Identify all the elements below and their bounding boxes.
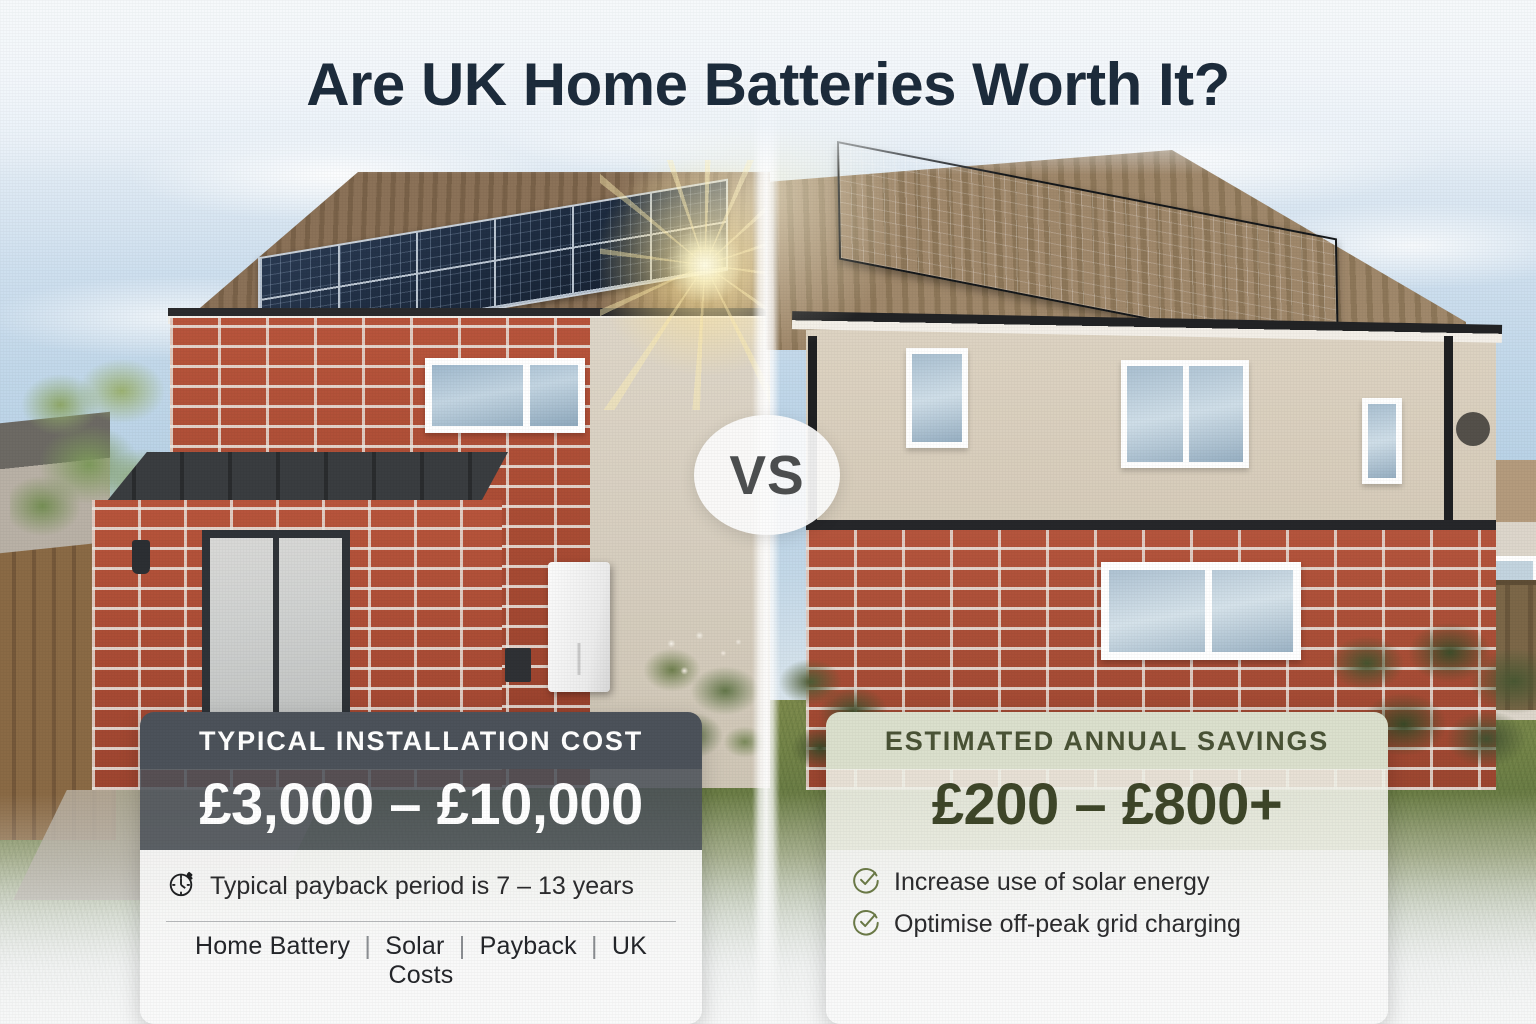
benefit-row-solar: Increase use of solar energy <box>852 862 1362 904</box>
annual-savings-body: Increase use of solar energy Optimise of… <box>826 850 1388 1024</box>
tag-separator-1: | <box>357 932 378 960</box>
right-window-left <box>906 348 968 448</box>
stopwatch-icon <box>166 868 196 905</box>
left-porch-lamp-icon <box>132 540 150 574</box>
infographic-canvas: Are UK Home Batteries Worth It? VS TYPIC… <box>0 0 1536 1024</box>
payback-note-row: Typical payback period is 7 – 13 years <box>166 862 676 913</box>
left-flowers <box>652 626 760 706</box>
right-window-right <box>1362 398 1402 484</box>
check-circle-icon <box>852 907 881 943</box>
payback-note-text: Typical payback period is 7 – 13 years <box>210 872 634 901</box>
right-window-center <box>1121 360 1249 468</box>
installation-cost-heading: TYPICAL INSTALLATION COST <box>140 712 702 769</box>
vs-badge: VS <box>694 415 840 535</box>
card-divider <box>166 921 676 922</box>
installation-cost-value: £3,000 – £10,000 <box>140 769 702 850</box>
right-ground-floor-window <box>1101 562 1301 660</box>
annual-savings-heading: ESTIMATED ANNUAL SAVINGS <box>826 712 1388 769</box>
tag-separator-3: | <box>584 932 605 960</box>
tag-payback: Payback <box>480 932 577 960</box>
tag-separator-2: | <box>452 932 473 960</box>
benefit-row-offpeak: Optimise off-peak grid charging <box>852 904 1362 946</box>
tag-solar: Solar <box>385 932 444 960</box>
benefit-label-offpeak: Optimise off-peak grid charging <box>894 910 1241 939</box>
satellite-dish-icon <box>1456 412 1490 446</box>
annual-savings-value: £200 – £800+ <box>826 769 1388 850</box>
benefit-label-solar: Increase use of solar energy <box>894 868 1209 897</box>
check-circle-icon <box>852 865 881 901</box>
page-title: Are UK Home Batteries Worth It? <box>0 50 1536 119</box>
tag-list: Home Battery | Solar | Payback | UK Cost… <box>166 932 676 990</box>
installation-cost-card: TYPICAL INSTALLATION COST £3,000 – £10,0… <box>140 712 702 1024</box>
installation-cost-body: Typical payback period is 7 – 13 years H… <box>140 850 702 1024</box>
inverter-box <box>505 648 531 682</box>
home-battery-unit <box>548 562 610 692</box>
left-upstairs-window <box>425 358 585 433</box>
annual-savings-card: ESTIMATED ANNUAL SAVINGS £200 – £800+ In… <box>826 712 1388 1024</box>
tag-home-battery: Home Battery <box>195 932 350 960</box>
